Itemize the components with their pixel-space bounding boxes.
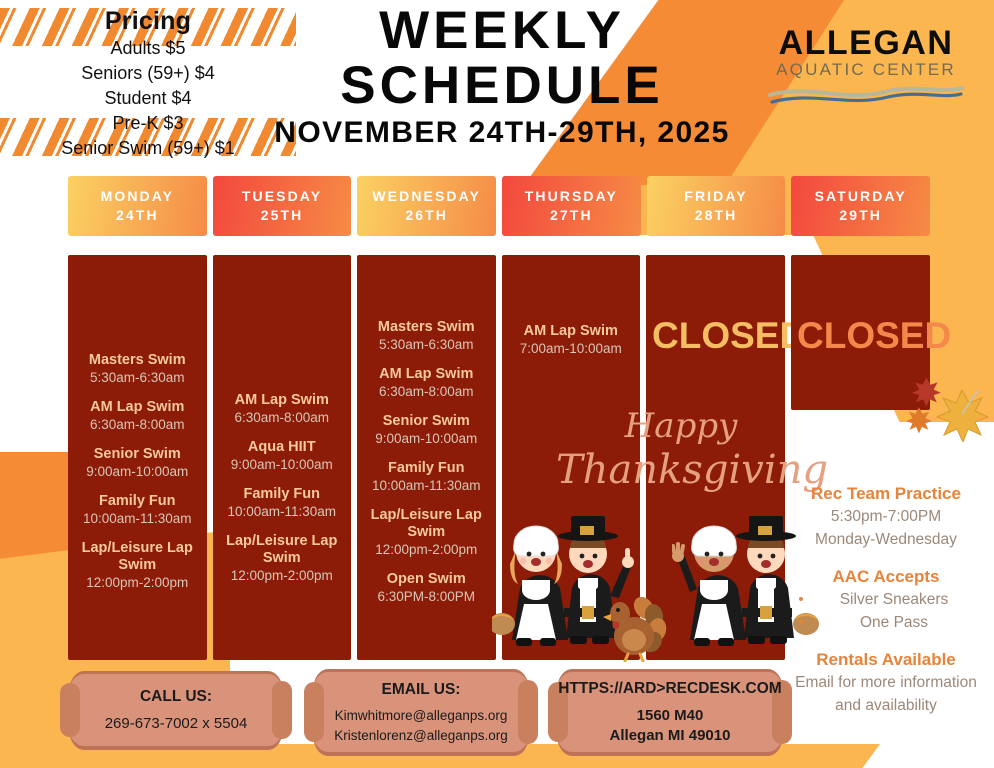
event-time: 6:30am-8:00am	[219, 409, 346, 426]
rentals-line2: and availability	[786, 694, 986, 717]
event-name: Lap/Leisure Lap Swim	[219, 533, 346, 567]
event-name: AM Lap Swim	[219, 392, 346, 409]
schedule-column-tuesday: AM Lap Swim 6:30am-8:00am Aqua HIIT 9:00…	[213, 255, 352, 660]
tuesday-events: AM Lap Swim 6:30am-8:00am Aqua HIIT 9:00…	[219, 265, 346, 650]
event-item: Masters Swim 5:30am-6:30am	[363, 319, 490, 353]
rentals-title: Rentals Available	[786, 648, 986, 671]
event-item: Family Fun 10:00am-11:30am	[363, 460, 490, 494]
event-name: Masters Swim	[74, 352, 201, 369]
event-time: 10:00am-11:30am	[74, 510, 201, 527]
event-time: 9:00am-10:00am	[219, 456, 346, 473]
event-time: 6:30PM-8:00PM	[363, 588, 490, 605]
event-item: Aqua HIIT 9:00am-10:00am	[219, 439, 346, 473]
spacer	[786, 634, 986, 648]
event-item: Open Swim 6:30PM-8:00PM	[363, 571, 490, 605]
day-header-tuesday[interactable]: TUESDAY 25TH	[213, 176, 352, 236]
event-time: 5:30am-6:30am	[74, 369, 201, 386]
event-item: Lap/Leisure Lap Swim 12:00pm-2:00pm	[363, 507, 490, 558]
accepts-item-label: One Pass	[816, 611, 986, 634]
aac-accepts-title: AAC Accepts	[786, 565, 986, 588]
list-item: • Silver Sneakers	[786, 588, 986, 611]
address-box: HTTPS://ARD>RECDESK.COM 1560 M40 Allegan…	[556, 672, 784, 752]
event-item: Masters Swim 5:30am-6:30am	[74, 352, 201, 386]
title-schedule: SCHEDULE	[232, 58, 772, 114]
address-line-2: Allegan MI 49010	[610, 726, 731, 746]
event-time: 12:00pm-2:00pm	[74, 574, 201, 591]
day-date: 29TH	[839, 206, 882, 225]
day-header-row: MONDAY 24TH TUESDAY 25TH WEDNESDAY 26TH …	[68, 176, 930, 236]
rec-team-title: Rec Team Practice	[786, 482, 986, 505]
day-name: FRIDAY	[684, 187, 747, 206]
event-name: Senior Swim	[74, 446, 201, 463]
call-us-title: CALL US:	[140, 686, 212, 708]
accepts-list: • Silver Sneakers • One Pass	[786, 588, 986, 634]
email-us-title: EMAIL US:	[382, 679, 461, 701]
day-date: 26TH	[405, 206, 448, 225]
event-name: AM Lap Swim	[74, 399, 201, 416]
day-date: 28TH	[695, 206, 738, 225]
email-address-1[interactable]: Kimwhitmore@alleganps.org	[335, 706, 508, 726]
day-header-friday[interactable]: FRIDAY 28TH	[647, 176, 786, 236]
event-name: Aqua HIIT	[219, 439, 346, 456]
wednesday-events: Masters Swim 5:30am-6:30am AM Lap Swim 6…	[363, 265, 490, 650]
rentals-line1: Email for more information	[786, 671, 986, 694]
email-us-box: EMAIL US: Kimwhitmore@alleganps.org Kris…	[312, 672, 530, 752]
logo-name: ALLEGAN	[766, 26, 966, 60]
event-name: Lap/Leisure Lap Swim	[74, 540, 201, 574]
event-time: 6:30am-8:00am	[363, 383, 490, 400]
day-name: SATURDAY	[815, 187, 907, 206]
event-item: Family Fun 10:00am-11:30am	[74, 493, 201, 527]
day-header-wednesday[interactable]: WEDNESDAY 26TH	[357, 176, 496, 236]
event-time: 9:00am-10:00am	[74, 463, 201, 480]
event-item: AM Lap Swim 6:30am-8:00am	[74, 399, 201, 433]
page-title: WEEKLY SCHEDULE NOVEMBER 24TH-29TH, 2025	[232, 4, 772, 150]
title-weekly: WEEKLY	[232, 4, 772, 58]
accepts-item-label: Silver Sneakers	[816, 588, 986, 611]
day-name: WEDNESDAY	[372, 187, 481, 206]
event-time: 10:00am-11:30am	[219, 503, 346, 520]
schedule-poster: Pricing Adults $5 Seniors (59+) $4 Stude…	[0, 0, 994, 768]
schedule-column-wednesday: Masters Swim 5:30am-6:30am AM Lap Swim 6…	[357, 255, 496, 660]
closed-label: CLOSED	[652, 315, 779, 357]
spacer	[786, 551, 986, 565]
event-time: 5:30am-6:30am	[363, 336, 490, 353]
closed-label: CLOSED	[797, 315, 924, 357]
bullet-dot-icon: •	[786, 614, 816, 631]
event-name: Family Fun	[219, 486, 346, 503]
event-item: AM Lap Swim 6:30am-8:00am	[363, 366, 490, 400]
event-name: Family Fun	[363, 460, 490, 477]
event-time: 9:00am-10:00am	[363, 430, 490, 447]
event-item: AM Lap Swim 6:30am-8:00am	[219, 392, 346, 426]
call-us-box: CALL US: 269-673-7002 x 5504	[68, 674, 284, 746]
schedule-column-monday: Masters Swim 5:30am-6:30am AM Lap Swim 6…	[68, 255, 207, 660]
event-time: 12:00pm-2:00pm	[363, 541, 490, 558]
event-name: Family Fun	[74, 493, 201, 510]
event-time: 10:00am-11:30am	[363, 477, 490, 494]
day-date: 24TH	[116, 206, 159, 225]
website-url[interactable]: HTTPS://ARD>RECDESK.COM	[558, 678, 781, 700]
event-time: 12:00pm-2:00pm	[219, 567, 346, 584]
title-dates: NOVEMBER 24TH-29TH, 2025	[232, 116, 772, 150]
event-item: Lap/Leisure Lap Swim 12:00pm-2:00pm	[74, 540, 201, 591]
day-header-monday[interactable]: MONDAY 24TH	[68, 176, 207, 236]
bullet-dot-icon: •	[786, 591, 816, 608]
event-item: Family Fun 10:00am-11:30am	[219, 486, 346, 520]
day-name: THURSDAY	[525, 187, 618, 206]
event-item: Senior Swim 9:00am-10:00am	[363, 413, 490, 447]
logo-tagline: AQUATIC CENTER	[766, 60, 966, 80]
event-item: AM Lap Swim 7:00am-10:00am	[508, 323, 635, 357]
address-line-1: 1560 M40	[637, 706, 704, 726]
day-name: TUESDAY	[242, 187, 322, 206]
rec-team-days: Monday-Wednesday	[786, 528, 986, 551]
event-name: AM Lap Swim	[363, 366, 490, 383]
day-date: 25TH	[261, 206, 304, 225]
day-header-saturday[interactable]: SATURDAY 29TH	[791, 176, 930, 236]
list-item: • One Pass	[786, 611, 986, 634]
monday-events: Masters Swim 5:30am-6:30am AM Lap Swim 6…	[74, 265, 201, 650]
turkey-icon	[600, 584, 676, 662]
event-name: AM Lap Swim	[508, 323, 635, 340]
event-item: Senior Swim 9:00am-10:00am	[74, 446, 201, 480]
logo: ALLEGAN AQUATIC CENTER	[766, 26, 966, 108]
info-panel: Rec Team Practice 5:30pm-7:00PM Monday-W…	[786, 482, 986, 717]
event-name: Masters Swim	[363, 319, 490, 336]
phone-number[interactable]: 269-673-7002 x 5504	[105, 714, 248, 734]
day-header-thursday[interactable]: THURSDAY 27TH	[502, 176, 641, 236]
autumn-leaves-icon	[900, 372, 990, 442]
event-time: 6:30am-8:00am	[74, 416, 201, 433]
day-date: 27TH	[550, 206, 593, 225]
event-name: Senior Swim	[363, 413, 490, 430]
event-name: Open Swim	[363, 571, 490, 588]
event-name: Lap/Leisure Lap Swim	[363, 507, 490, 541]
event-time: 7:00am-10:00am	[508, 340, 635, 357]
rec-team-time: 5:30pm-7:00PM	[786, 505, 986, 528]
wave-icon	[768, 82, 964, 108]
day-name: MONDAY	[101, 187, 175, 206]
event-item: Lap/Leisure Lap Swim 12:00pm-2:00pm	[219, 533, 346, 584]
email-address-2[interactable]: Kristenlorenz@alleganps.org	[334, 726, 508, 746]
